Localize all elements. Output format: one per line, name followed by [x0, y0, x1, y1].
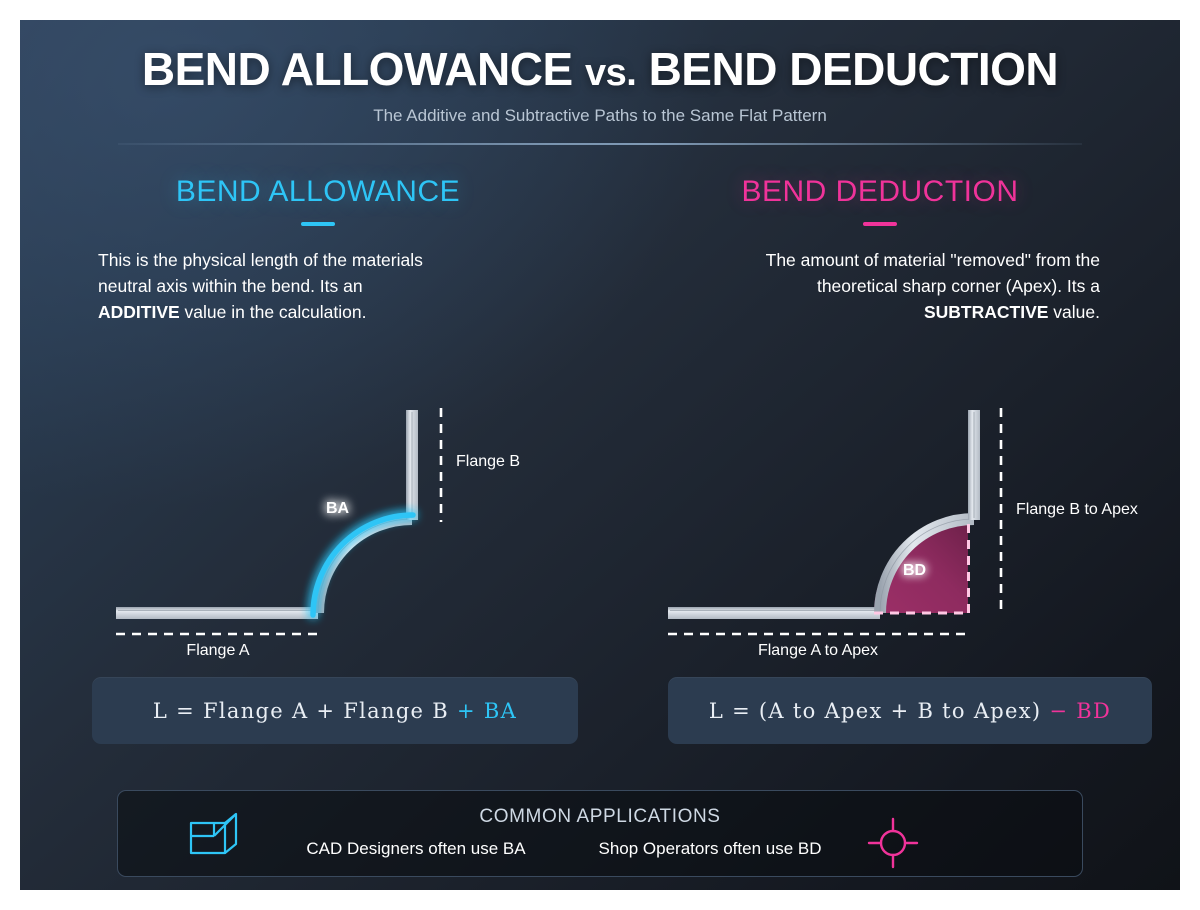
bend-arc-material	[318, 519, 412, 613]
formula-ba-base: L = Flange A + Flange B	[153, 699, 457, 723]
bend-deduction-label: BD	[903, 562, 926, 579]
ba-body-emphasis: ADDITIVE	[98, 302, 180, 322]
column-body-bend-allowance: This is the physical length of the mater…	[98, 247, 538, 325]
flange-b-label: Flange B	[456, 453, 520, 470]
page-subtitle: The Additive and Subtractive Paths to th…	[20, 106, 1180, 126]
formula-bend-deduction: L = (A to Apex + B to Apex) − BD	[668, 677, 1152, 744]
ba-body-line-3: value in the calculation.	[180, 302, 367, 322]
bend-allowance-arc-label: BA	[326, 500, 350, 517]
page-title: BEND ALLOWANCE vs. BEND DEDUCTION	[20, 42, 1180, 96]
column-heading-bend-allowance: BEND ALLOWANCE	[98, 175, 538, 209]
title-vs: vs.	[585, 52, 636, 94]
accent-dash-cyan	[301, 222, 335, 226]
bend-allowance-arc	[313, 515, 413, 615]
flange-a-material	[116, 607, 318, 619]
header-divider	[118, 143, 1082, 145]
footer-note-cad-designers: CAD Designers often use BA	[286, 839, 546, 859]
bd-body-line-3: value.	[1048, 302, 1100, 322]
column-body-bend-deduction: The amount of material "removed" from th…	[660, 247, 1100, 325]
formula-ba-term: BA	[484, 699, 517, 723]
column-heading-bend-deduction: BEND DEDUCTION	[660, 175, 1100, 209]
formula-ba-operator: +	[457, 699, 476, 723]
column-bend-deduction: BEND DEDUCTION The amount of material "r…	[660, 175, 1100, 325]
flange-b-apex-material	[968, 410, 980, 520]
ba-body-line-2: neutral axis within the bend. Its an	[98, 276, 363, 296]
accent-dash-magenta	[863, 222, 897, 226]
bd-body-emphasis: SUBTRACTIVE	[924, 302, 1048, 322]
diagram-bend-deduction: BD Flange A to Apex Flange B to Apex	[660, 400, 1130, 665]
bd-body-line-1: The amount of material "removed" from th…	[766, 250, 1100, 270]
crosshair-target-icon	[866, 816, 920, 875]
bd-body-line-2: theoretical sharp corner (Apex). Its a	[817, 276, 1100, 296]
ba-body-line-1: This is the physical length of the mater…	[98, 250, 423, 270]
sheet-metal-bend-icon	[186, 808, 244, 865]
title-part-1: BEND ALLOWANCE	[142, 43, 573, 95]
formula-bd-operator: −	[1049, 699, 1068, 723]
flange-a-apex-material	[668, 607, 880, 619]
title-part-2: BEND DEDUCTION	[649, 43, 1059, 95]
formula-bd-base: L = (A to Apex + B to Apex)	[709, 699, 1050, 723]
formula-bend-allowance: L = Flange A + Flange B + BA	[92, 677, 578, 744]
flange-b-apex-label: Flange B to Apex	[1016, 501, 1138, 518]
footer-title: COMMON APPLICATIONS	[118, 806, 1082, 828]
flange-b-material	[406, 410, 418, 520]
diagram-bend-allowance: BA Flange A Flange B	[98, 400, 568, 665]
infographic-canvas: BEND ALLOWANCE vs. BEND DEDUCTION The Ad…	[20, 20, 1180, 890]
footer-note-shop-operators: Shop Operators often use BD	[580, 839, 840, 859]
footer-common-applications: COMMON APPLICATIONS CAD Designers often …	[117, 790, 1083, 877]
flange-a-label: Flange A	[186, 642, 249, 659]
formula-bd-term: BD	[1076, 699, 1111, 723]
flange-a-apex-label: Flange A to Apex	[758, 642, 878, 659]
column-bend-allowance: BEND ALLOWANCE This is the physical leng…	[98, 175, 538, 325]
